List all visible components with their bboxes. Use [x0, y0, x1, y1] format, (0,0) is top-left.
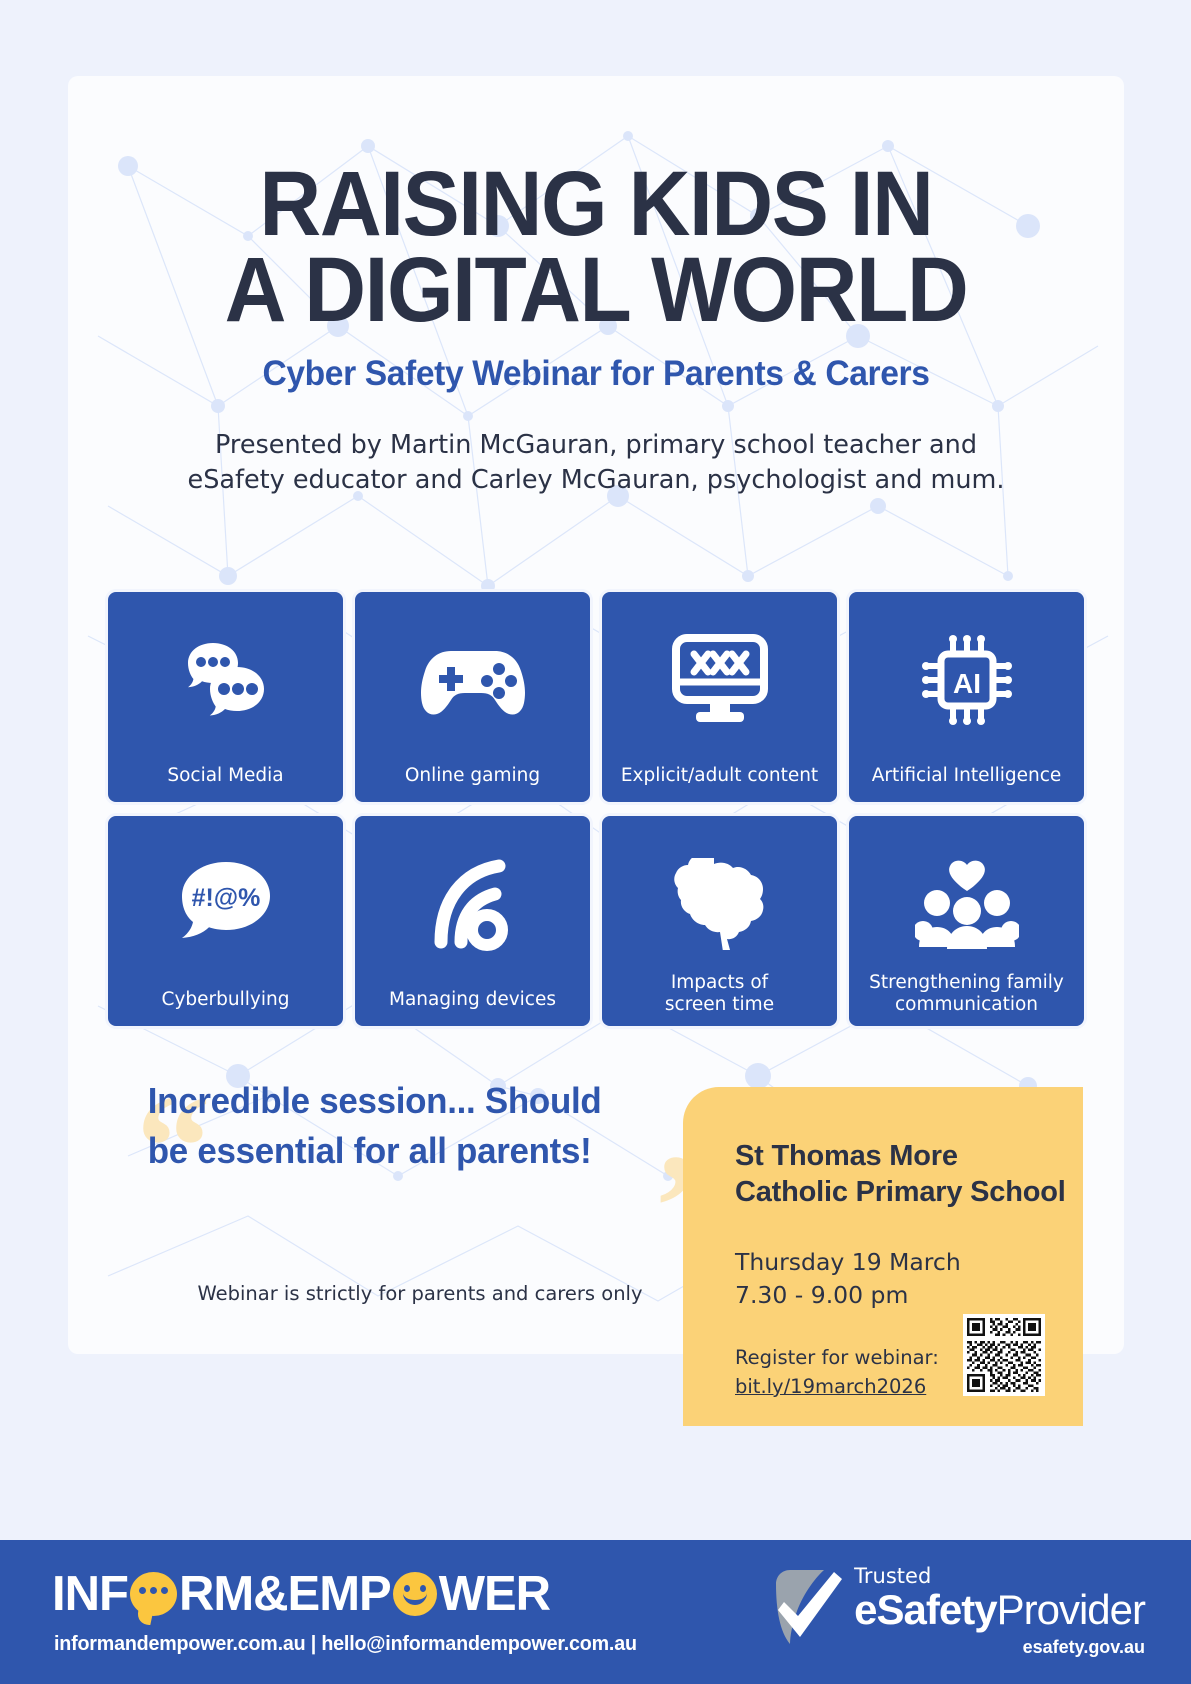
svg-text:#!@%: #!@% — [191, 884, 260, 912]
topic-card-screen-time[interactable]: Impacts of screen time — [602, 816, 837, 1026]
register-label: Register for webinar: — [735, 1346, 939, 1369]
topic-label: Social Media — [114, 765, 337, 786]
smiley-eye-right — [420, 1585, 426, 1592]
topic-label: Strengthening family communication — [855, 972, 1078, 1015]
topic-card-online-gaming[interactable]: Online gaming — [355, 592, 590, 802]
poster-page: RAISING KIDS IN A DIGITAL WORLD Cyber Sa… — [0, 0, 1191, 1684]
brain-icon — [670, 850, 770, 958]
gamepad-icon — [421, 626, 525, 734]
audience-note: Webinar is strictly for parents and care… — [140, 1282, 700, 1305]
topic-label: Online gaming — [361, 765, 584, 786]
topic-label-line-2: communication — [895, 994, 1038, 1015]
topics-grid: Social Media Online gaming — [108, 592, 1084, 1026]
topic-card-cyberbullying[interactable]: #!@% Cyberbullying — [108, 816, 343, 1026]
ai-chip-icon: AI — [917, 626, 1017, 734]
wifi-signal-icon — [425, 850, 521, 958]
page-title: RAISING KIDS IN A DIGITAL WORLD — [105, 162, 1087, 333]
smiley-eye-left — [404, 1585, 410, 1592]
event-date: Thursday 19 March — [735, 1248, 961, 1276]
esafety-light-label: Provider — [997, 1586, 1145, 1633]
brand-text-part-2: RM&EMP — [179, 1570, 391, 1619]
topic-label: Cyberbullying — [114, 989, 337, 1010]
brand-text-part-3: WER — [439, 1570, 550, 1619]
topic-label: Explicit/adult content — [608, 765, 831, 786]
presenter-text: Presented by Martin McGauran, primary sc… — [148, 428, 1044, 498]
event-time: 7.30 - 9.00 pm — [735, 1281, 908, 1309]
topic-card-social-media[interactable]: Social Media — [108, 592, 343, 802]
bubble-dots-icon — [130, 1587, 177, 1594]
inform-empower-logo: INF RM&EMP WER — [52, 1566, 550, 1622]
page-subtitle: Cyber Safety Webinar for Parents & Carer… — [89, 354, 1103, 394]
esafety-bold-label: eSafety — [854, 1586, 996, 1633]
swear-bubble-icon: #!@% — [176, 850, 276, 958]
esafety-url: esafety.gov.au — [854, 1637, 1145, 1658]
school-line-1: St Thomas More — [735, 1140, 958, 1172]
quote-text: Incredible session... Should be essentia… — [140, 1076, 683, 1175]
topic-card-managing-devices[interactable]: Managing devices — [355, 816, 590, 1026]
topic-label: Managing devices — [361, 989, 584, 1010]
topic-card-artificial-intelligence[interactable]: AI Artificial Intelligence — [849, 592, 1084, 802]
topic-label-line-1: Strengthening family — [869, 972, 1064, 993]
event-datetime: Thursday 19 March 7.30 - 9.00 pm — [735, 1246, 1083, 1313]
title-line-2: A DIGITAL WORLD — [105, 248, 1087, 334]
event-school-name: St Thomas More Catholic Primary School — [735, 1139, 1083, 1211]
topic-label: Artificial Intelligence — [855, 765, 1078, 786]
qr-code-icon[interactable] — [963, 1314, 1045, 1396]
event-details-panel: St Thomas More Catholic Primary School T… — [683, 1087, 1083, 1426]
checkmark-icon — [768, 1566, 848, 1652]
topic-card-family-communication[interactable]: Strengthening family communication — [849, 816, 1084, 1026]
presenter-line-2: eSafety educator and Carley McGauran, ps… — [188, 465, 1005, 495]
esafety-provider-badge: Trusted eSafetyProvider esafety.gov.au — [768, 1566, 1145, 1658]
register-link[interactable]: bit.ly/19march2026 — [735, 1372, 926, 1401]
testimonial-quote: “ ” Incredible session... Should be esse… — [140, 1076, 700, 1236]
smiley-o-icon — [393, 1572, 437, 1616]
monitor-xxx-icon — [670, 626, 770, 734]
footer-bar: INF RM&EMP WER informandempower.com.au |… — [0, 1540, 1191, 1684]
school-line-2: Catholic Primary School — [735, 1176, 1066, 1208]
esafety-trusted-label: Trusted — [854, 1566, 1145, 1587]
topic-card-explicit-content[interactable]: Explicit/adult content — [602, 592, 837, 802]
presenter-line-1: Presented by Martin McGauran, primary sc… — [215, 430, 977, 460]
brand-text-part-1: INF — [52, 1570, 128, 1619]
svg-text:AI: AI — [953, 668, 981, 699]
smiley-mouth — [403, 1592, 427, 1605]
topic-label-line-1: Impacts of — [671, 972, 768, 993]
speech-bubbles-icon — [174, 626, 278, 734]
speech-bubble-o-icon — [130, 1572, 177, 1616]
family-heart-icon — [915, 850, 1019, 958]
footer-contact: informandempower.com.au | hello@informan… — [54, 1632, 637, 1656]
topic-label: Impacts of screen time — [608, 972, 831, 1015]
quote-line-1: Incredible session... Should — [148, 1080, 602, 1121]
topic-label-line-2: screen time — [665, 994, 774, 1015]
quote-line-2: be essential for all parents! — [148, 1130, 592, 1171]
